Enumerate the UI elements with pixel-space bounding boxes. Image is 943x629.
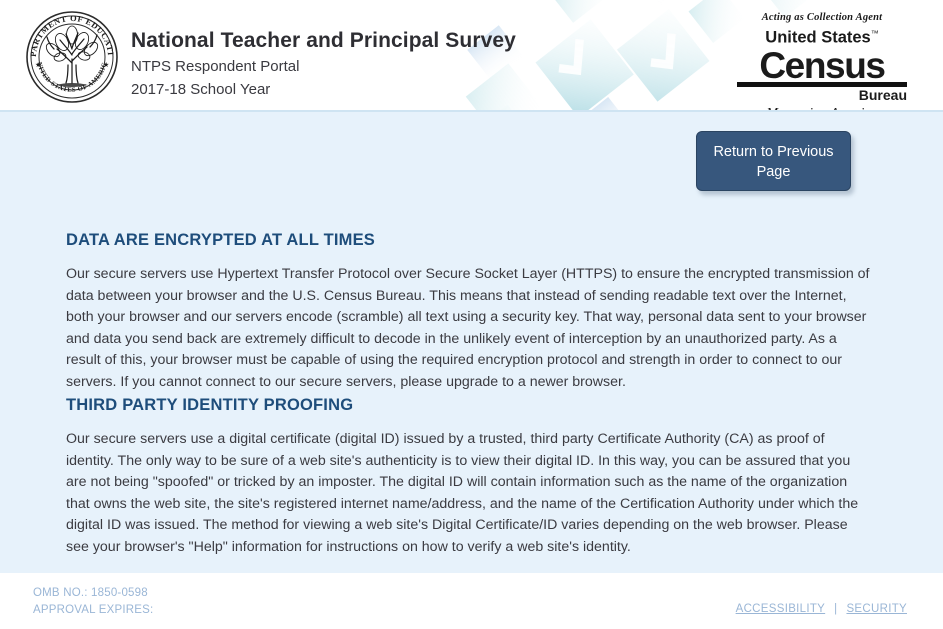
section-body: Our secure servers use Hypertext Transfe… xyxy=(66,264,872,393)
census-united-states-text: United States™ xyxy=(765,25,878,47)
department-of-education-seal-icon: DEPARTMENT OF EDUCATION UNITED STATES OF… xyxy=(24,9,120,105)
page-header: DEPARTMENT OF EDUCATION UNITED STATES OF… xyxy=(0,0,943,112)
census-united-states-label: United States xyxy=(765,29,870,47)
section-heading: THIRD PARTY IDENTITY PROOFING xyxy=(66,395,872,415)
omb-info: OMB NO.: 1850-0598 APPROVAL EXPIRES: xyxy=(33,585,153,619)
census-wordmark: Census xyxy=(737,48,907,84)
portal-subtitle: NTPS Respondent Portal xyxy=(131,57,516,77)
header-title-block: National Teacher and Principal Survey NT… xyxy=(131,28,516,100)
section-third-party-identity-proofing: THIRD PARTY IDENTITY PROOFING Our secure… xyxy=(66,395,872,558)
page-footer: OMB NO.: 1850-0598 APPROVAL EXPIRES: ACC… xyxy=(0,573,943,629)
census-bureau-logo: Acting as Collection Agent United States… xyxy=(737,12,907,112)
footer-link-separator: | xyxy=(825,603,846,615)
section-data-encryption: DATA ARE ENCRYPTED AT ALL TIMES Our secu… xyxy=(66,230,872,393)
accessibility-link[interactable]: ACCESSIBILITY xyxy=(736,603,826,615)
return-to-previous-page-button[interactable]: Return to Previous Page xyxy=(696,131,851,191)
section-heading: DATA ARE ENCRYPTED AT ALL TIMES xyxy=(66,230,872,250)
svg-text:★: ★ xyxy=(35,61,41,69)
school-year-subtitle: 2017-18 School Year xyxy=(131,80,516,100)
omb-number: OMB NO.: 1850-0598 xyxy=(33,585,153,602)
page-title: National Teacher and Principal Survey xyxy=(131,28,516,54)
svg-text:★: ★ xyxy=(103,61,109,69)
footer-links: ACCESSIBILITY|SECURITY xyxy=(736,603,907,615)
census-agent-line: Acting as Collection Agent xyxy=(737,12,907,24)
trademark-icon: ™ xyxy=(871,29,879,38)
census-bureau-label: Bureau xyxy=(737,88,907,103)
approval-expires: APPROVAL EXPIRES: xyxy=(33,602,153,619)
section-body: Our secure servers use a digital certifi… xyxy=(66,429,872,558)
security-link[interactable]: SECURITY xyxy=(846,603,907,615)
main-content: Return to Previous Page DATA ARE ENCRYPT… xyxy=(0,112,943,573)
